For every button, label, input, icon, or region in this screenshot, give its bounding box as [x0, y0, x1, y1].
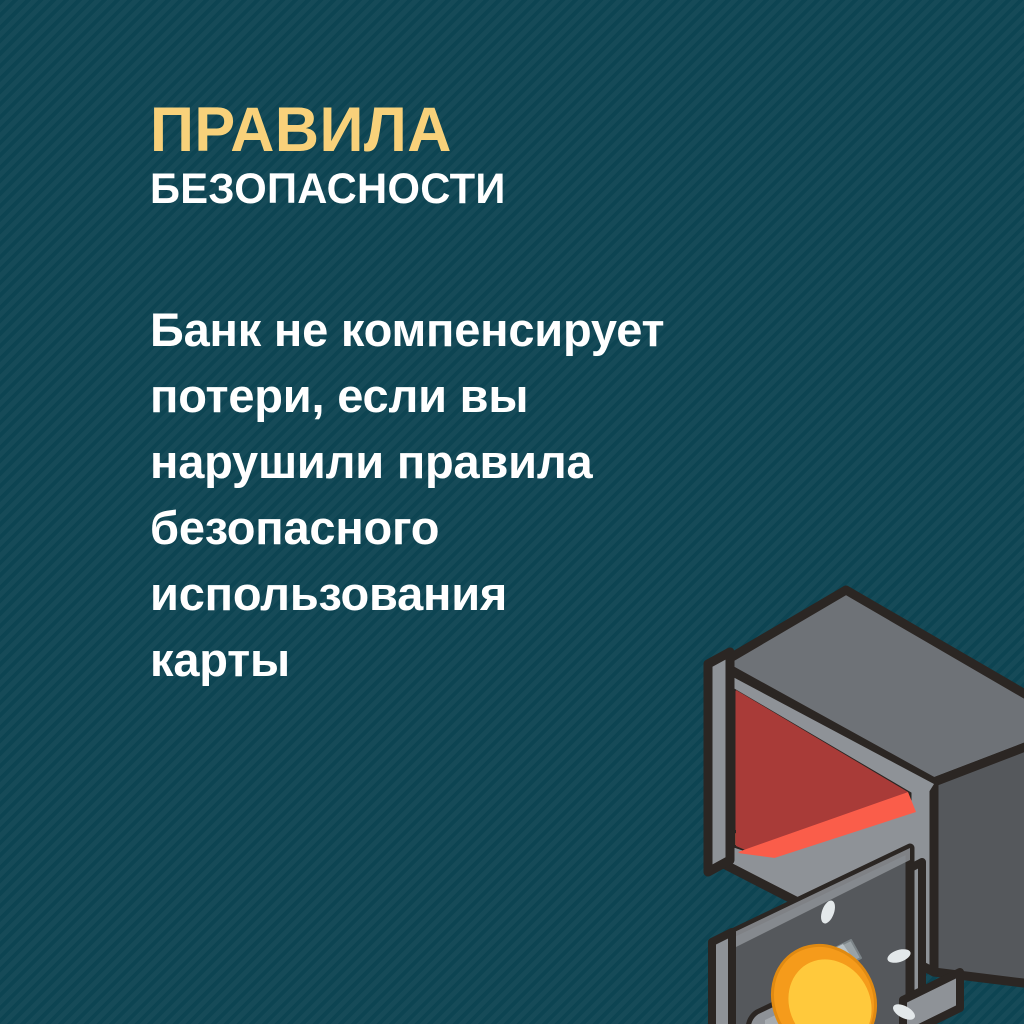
safe-left-pillar: [708, 652, 730, 872]
body-line: нарушили правила: [150, 429, 830, 495]
safe-door-spine: [712, 932, 732, 1024]
body-line: потери, если вы: [150, 363, 830, 429]
body-line: Банк не компенсирует: [150, 297, 830, 363]
open-safe-icon: [660, 560, 1024, 1024]
infographic-card: ПРАВИЛА БЕЗОПАСНОСТИ Банк не компенсируе…: [0, 0, 1024, 1024]
page-title: ПРАВИЛА: [150, 98, 829, 162]
safe-illustration: [660, 560, 1024, 1024]
body-line: безопасного: [150, 495, 830, 561]
page-subtitle: БЕЗОПАСНОСТИ: [150, 164, 829, 214]
heading-block: ПРАВИЛА БЕЗОПАСНОСТИ: [150, 98, 850, 214]
